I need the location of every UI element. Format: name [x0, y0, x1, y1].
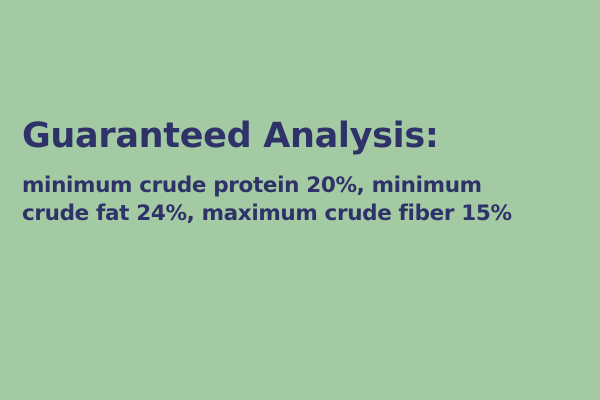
analysis-line-1: minimum crude protein 20%, minimum: [22, 172, 586, 200]
text-block: Guaranteed Analysis: minimum crude prote…: [22, 118, 586, 229]
analysis-line-2: crude fat 24%, maximum crude fiber 15%: [22, 200, 586, 228]
guaranteed-analysis-poster: Guaranteed Analysis: minimum crude prote…: [0, 0, 600, 400]
guaranteed-analysis-values: minimum crude protein 20%, minimum crude…: [22, 155, 586, 229]
page-title: Guaranteed Analysis:: [22, 118, 586, 155]
